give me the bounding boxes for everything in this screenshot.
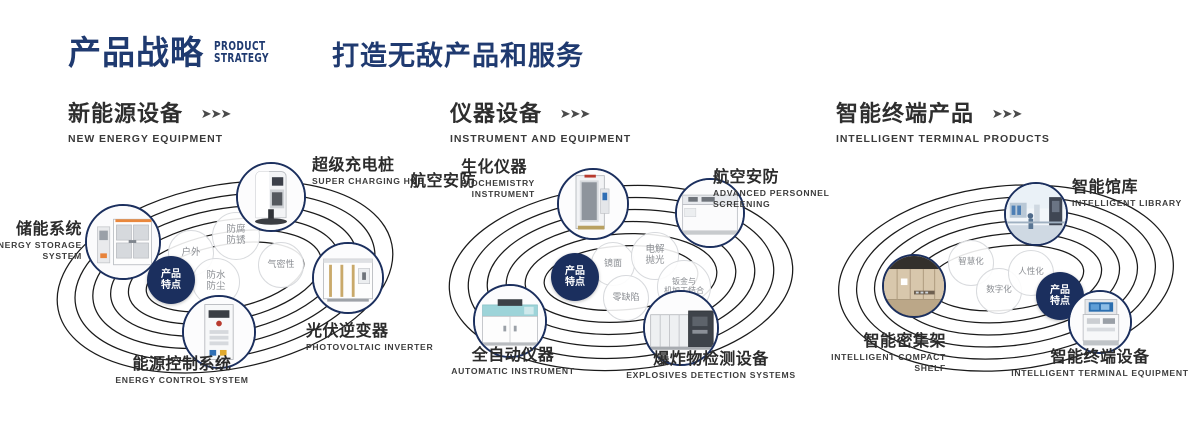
- feature-bubble-airtightness: 气密性: [258, 242, 304, 288]
- caption-intelligent-library: 智能馆库 INTELLIGENT LIBRARY: [1072, 178, 1182, 209]
- feature-bubble-zero-defect: 零缺陷: [603, 275, 649, 321]
- compact-shelf-photo: [884, 256, 944, 316]
- section-title-cn: 新能源设备 ➤➤➤: [68, 96, 230, 128]
- caption-en: ADVANCED PERSONNEL SCREENING: [713, 188, 830, 209]
- poster-header: 产品战略 PRODUCT STRATEGY: [68, 26, 283, 78]
- page-title: 产品战略: [68, 36, 204, 69]
- section-title-cn-text: 新能源设备: [68, 102, 183, 127]
- caption-en: SUPER CHARGING HUB: [312, 176, 424, 187]
- node-intelligent-terminal-equipment[interactable]: [1068, 290, 1132, 354]
- caption-automatic-instrument: 全自动仪器 AUTOMATIC INSTRUMENT: [415, 346, 611, 377]
- caption-en: ENERGY CONTROL SYSTEM: [82, 375, 282, 386]
- page-title-english: PRODUCT STRATEGY: [214, 40, 269, 65]
- chevrons-icon: ➤➤➤: [201, 107, 231, 122]
- section-heading-instrument: 仪器设备 ➤➤➤ INSTRUMENT AND EQUIPMENT: [450, 96, 631, 145]
- caption-cn: 超级充电桩: [312, 156, 424, 174]
- feature-bubble-label: 人性化: [1018, 268, 1044, 278]
- caption-en: INTELLIGENT LIBRARY: [1072, 198, 1182, 209]
- feature-bubble-label: 防尘: [206, 282, 225, 293]
- caption-cn: 能源控制系统: [82, 355, 282, 373]
- page-title-english-line2: STRATEGY: [214, 52, 269, 65]
- caption-en: INTELLIGENT COMPACT SHELF: [756, 352, 946, 373]
- feature-bubble-label: 镜面: [604, 259, 622, 269]
- cluster-new-energy: 户外 防腐 防锈 防水 防尘 气密性 产品 特点: [40, 150, 420, 390]
- poster-canvas: 产品战略 PRODUCT STRATEGY 打造无敌产品和服务 新能源设备 ➤➤…: [0, 0, 1200, 422]
- section-heading-new-energy: 新能源设备 ➤➤➤ NEW ENERGY EQUIPMENT: [68, 96, 230, 145]
- caption-en: AUTOMATIC INSTRUMENT: [415, 366, 611, 377]
- section-title-en: INTELLIGENT TERMINAL PRODUCTS: [836, 133, 1050, 145]
- product-features-line1: 产品: [161, 269, 181, 280]
- caption-intelligent-compact-shelf: 智能密集架 INTELLIGENT COMPACT SHELF: [756, 332, 946, 374]
- section-title-cn: 仪器设备 ➤➤➤: [450, 96, 631, 128]
- self-service-kiosk-photo: [1070, 292, 1130, 352]
- product-features-line2: 特点: [565, 277, 585, 288]
- caption-cn: 储能系统: [0, 220, 82, 238]
- feature-bubble-label: 抛光: [645, 256, 664, 267]
- node-intelligent-compact-shelf[interactable]: [882, 254, 946, 318]
- charging-pile-photo: [238, 164, 304, 230]
- caption-advanced-personnel-screening: 航空安防 ADVANCED PERSONNEL SCREENING: [713, 168, 830, 210]
- biochemistry-scanner-photo: [559, 170, 627, 238]
- product-features-line2: 特点: [1050, 296, 1070, 307]
- section-title-cn-text: 仪器设备: [450, 102, 542, 127]
- caption-cn: 全自动仪器: [415, 346, 611, 364]
- product-features-bubble: 产品 特点: [551, 253, 599, 301]
- node-photovoltaic-inverter[interactable]: [312, 242, 384, 314]
- caption-intelligent-terminal-equipment: 智能终端设备 INTELLIGENT TERMINAL EQUIPMENT: [1000, 348, 1200, 379]
- feature-bubble-label: 气密性: [267, 260, 294, 270]
- feature-bubble-label: 防锈: [226, 236, 245, 247]
- caption-cn: 智能密集架: [756, 332, 946, 350]
- caption-cn: 光伏逆变器: [306, 322, 433, 340]
- caption-cn: 生化仪器: [461, 158, 535, 176]
- feature-bubble-label: 零缺陷: [612, 293, 639, 303]
- caption-biochemistry-instrument: 生化仪器 BIOCHEMISTRY INSTRUMENT: [461, 158, 535, 200]
- section-title-cn: 智能终端产品 ➤➤➤: [836, 96, 1050, 128]
- feature-bubble-label: 智慧化: [958, 258, 984, 268]
- node-intelligent-library[interactable]: [1004, 182, 1068, 246]
- node-energy-storage-system[interactable]: [85, 204, 161, 280]
- caption-en: INTELLIGENT TERMINAL EQUIPMENT: [1000, 368, 1200, 379]
- caption-en: BIOCHEMISTRY INSTRUMENT: [461, 178, 535, 199]
- caption-energy-storage-system: 储能系统 ENERGY STORAGE SYSTEM: [0, 220, 82, 262]
- caption-en: ENERGY STORAGE SYSTEM: [0, 240, 82, 261]
- product-features-line1: 产品: [1050, 285, 1070, 296]
- section-title-cn-text: 智能终端产品: [836, 102, 974, 127]
- cluster-intelligent-terminal: 智慧化 数字化 人性化 产品 特点: [820, 150, 1200, 390]
- caption-cn: 智能馆库: [1072, 178, 1182, 196]
- node-biochemistry-instrument[interactable]: [557, 168, 629, 240]
- section-heading-intelligent-terminal: 智能终端产品 ➤➤➤ INTELLIGENT TERMINAL PRODUCTS: [836, 96, 1050, 145]
- page-subtitle: 打造无敌产品和服务: [332, 34, 584, 73]
- chevrons-icon: ➤➤➤: [992, 107, 1022, 122]
- caption-cn: 智能终端设备: [1000, 348, 1200, 366]
- caption-cn: 航空安防: [713, 168, 830, 186]
- battery-cabinet-photo: [87, 206, 159, 278]
- feature-bubble-label: 数字化: [986, 286, 1012, 296]
- pv-inverter-photo: [314, 244, 382, 312]
- feature-bubble-label: 户外: [181, 248, 200, 259]
- node-super-charging-hub[interactable]: [236, 162, 306, 232]
- chevrons-icon: ➤➤➤: [560, 107, 590, 122]
- product-features-line1: 产品: [565, 266, 585, 277]
- caption-super-charging-hub: 超级充电桩 SUPER CHARGING HUB: [312, 156, 424, 187]
- section-title-en: NEW ENERGY EQUIPMENT: [68, 133, 230, 145]
- library-interior-photo: [1006, 184, 1066, 244]
- caption-energy-control-system: 能源控制系统 ENERGY CONTROL SYSTEM: [82, 355, 282, 386]
- product-features-line2: 特点: [161, 280, 181, 291]
- section-title-en: INSTRUMENT AND EQUIPMENT: [450, 133, 631, 145]
